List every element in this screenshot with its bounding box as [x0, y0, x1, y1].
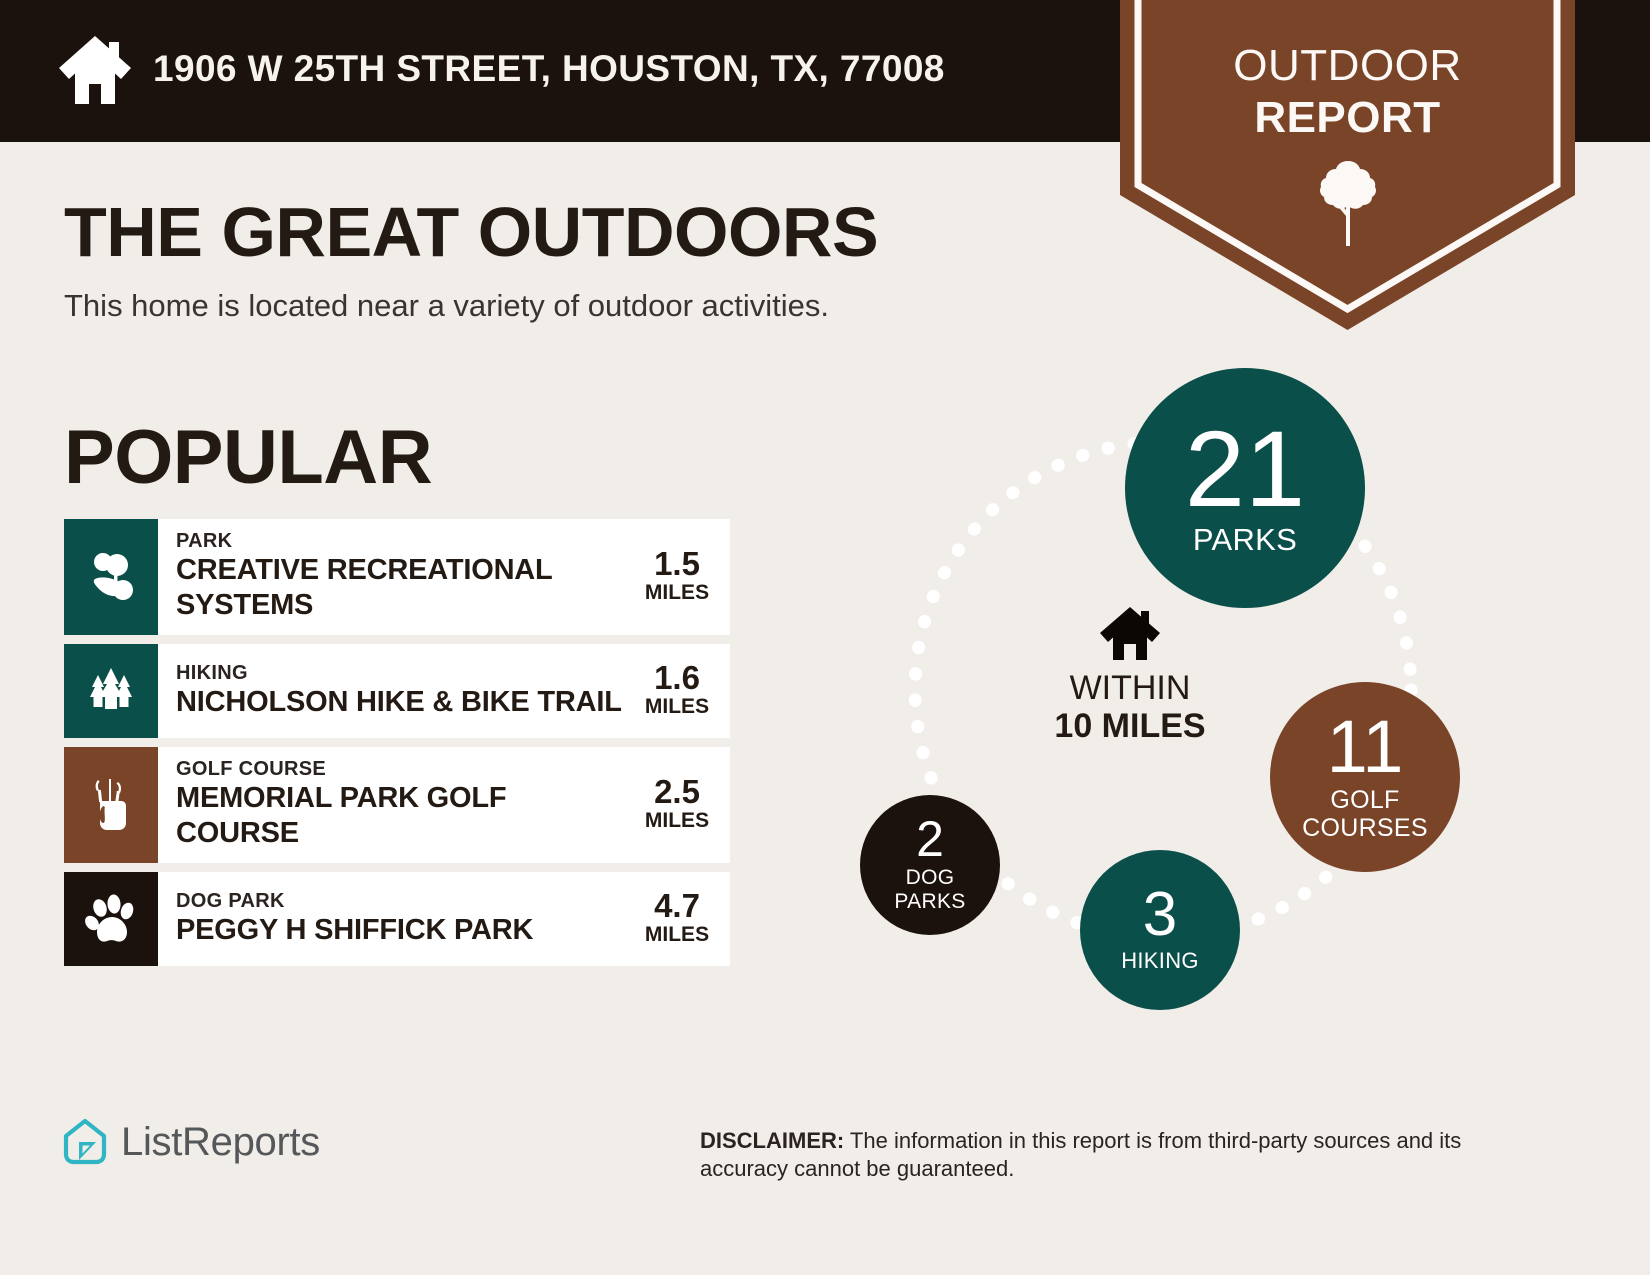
- center-label-line-2: 10 MILES: [1040, 707, 1220, 745]
- bubble-label: HIKING: [1121, 948, 1199, 974]
- paw-print-icon: [64, 872, 158, 966]
- list-item[interactable]: DOG PARK PEGGY H SHIFFICK PARK 4.7 MILES: [64, 872, 730, 966]
- distance-unit: MILES: [638, 809, 716, 833]
- outdoor-report-page: 1906 W 25TH STREET, HOUSTON, TX, 77008 O…: [0, 0, 1650, 1275]
- list-item-name: PEGGY H SHIFFICK PARK: [176, 913, 630, 948]
- listreports-logo[interactable]: ListReports: [62, 1118, 320, 1166]
- popular-heading: POPULAR: [64, 414, 432, 501]
- chart-center-label: WITHIN 10 MILES: [1040, 605, 1220, 745]
- list-item-category: HIKING: [176, 661, 630, 685]
- bubble-value: 3: [1143, 886, 1177, 945]
- bubble-label-line-1: GOLF: [1302, 786, 1428, 814]
- park-trees-icon: [64, 519, 158, 635]
- distance-value: 1.6: [638, 661, 716, 695]
- list-item[interactable]: HIKING NICHOLSON HIKE & BIKE TRAIL 1.6 M…: [64, 644, 730, 738]
- property-address: 1906 W 25TH STREET, HOUSTON, TX, 77008: [153, 48, 945, 90]
- bubble-value: 11: [1327, 712, 1404, 782]
- list-item-category: GOLF COURSE: [176, 757, 630, 781]
- bubble-label-line-2: COURSES: [1302, 814, 1428, 842]
- bubble-parks[interactable]: 21 PARKS: [1125, 368, 1365, 608]
- outdoor-report-badge: OUTDOOR REPORT: [1120, 0, 1575, 330]
- disclaimer-label: DISCLAIMER:: [700, 1128, 844, 1153]
- distance-unit: MILES: [638, 695, 716, 719]
- badge-line-1: OUTDOOR: [1120, 40, 1575, 92]
- list-item-distance: 2.5 MILES: [630, 775, 730, 833]
- house-icon: [1099, 605, 1161, 661]
- list-item-name: CREATIVE RECREATIONAL SYSTEMS: [176, 553, 630, 623]
- listreports-house-icon: [62, 1118, 108, 1166]
- center-label-line-1: WITHIN: [1040, 669, 1220, 707]
- distance-value: 1.5: [638, 547, 716, 581]
- bubble-dog-parks[interactable]: 2 DOG PARKS: [860, 795, 1000, 935]
- bubble-label: DOG PARKS: [894, 866, 965, 914]
- badge-title: OUTDOOR REPORT: [1120, 40, 1575, 144]
- list-item-category: DOG PARK: [176, 889, 630, 913]
- distance-unit: MILES: [638, 923, 716, 947]
- list-item-category: PARK: [176, 529, 630, 553]
- tree-icon: [1319, 158, 1377, 248]
- within-10-miles-bubble-chart: 21 PARKS 11 GOLF COURSES 3 HIKING 2 DOG …: [830, 360, 1530, 1040]
- list-item-name: MEMORIAL PARK GOLF COURSE: [176, 781, 630, 851]
- bubble-value: 21: [1185, 418, 1305, 521]
- badge-line-2: REPORT: [1120, 92, 1575, 144]
- distance-value: 4.7: [638, 889, 716, 923]
- list-item-distance: 4.7 MILES: [630, 889, 730, 947]
- page-subtitle: This home is located near a variety of o…: [64, 288, 829, 324]
- pine-trees-icon: [64, 644, 158, 738]
- list-item-name: NICHOLSON HIKE & BIKE TRAIL: [176, 685, 630, 720]
- page-title: THE GREAT OUTDOORS: [64, 192, 878, 272]
- bubble-hiking[interactable]: 3 HIKING: [1080, 850, 1240, 1010]
- house-icon: [57, 34, 133, 106]
- golf-bag-icon: [64, 747, 158, 863]
- distance-value: 2.5: [638, 775, 716, 809]
- list-item[interactable]: GOLF COURSE MEMORIAL PARK GOLF COURSE 2.…: [64, 747, 730, 863]
- list-item-distance: 1.6 MILES: [630, 661, 730, 719]
- bubble-golf-courses[interactable]: 11 GOLF COURSES: [1270, 682, 1460, 872]
- bubble-label: GOLF COURSES: [1302, 786, 1428, 842]
- bubble-label: PARKS: [1193, 522, 1297, 558]
- distance-unit: MILES: [638, 581, 716, 605]
- list-item-distance: 1.5 MILES: [630, 547, 730, 605]
- listreports-wordmark: ListReports: [121, 1122, 320, 1162]
- disclaimer: DISCLAIMER: The information in this repo…: [700, 1127, 1505, 1183]
- popular-list: PARK CREATIVE RECREATIONAL SYSTEMS 1.5 M…: [64, 519, 730, 975]
- list-item[interactable]: PARK CREATIVE RECREATIONAL SYSTEMS 1.5 M…: [64, 519, 730, 635]
- bubble-value: 2: [916, 816, 944, 864]
- bubble-label-line-2: PARKS: [894, 890, 965, 914]
- bubble-label-line-1: DOG: [894, 866, 965, 890]
